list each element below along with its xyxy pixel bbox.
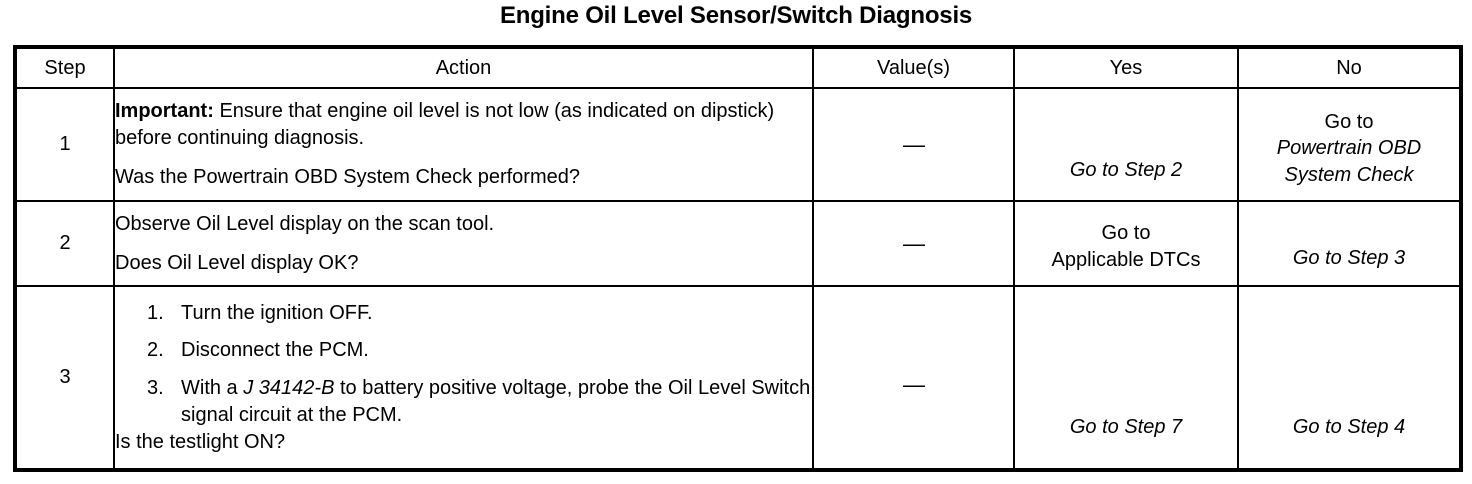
no-cell: Go to Step 3 bbox=[1238, 201, 1461, 286]
value-cell: — bbox=[813, 286, 1014, 470]
table-header-row: Step Action Value(s) Yes No bbox=[15, 47, 1461, 88]
yes-goto-reference: Applicable DTCs bbox=[1015, 247, 1237, 273]
list-item-text: Turn the ignition OFF. bbox=[181, 302, 373, 324]
yes-cell: Go to Step 7 bbox=[1014, 286, 1238, 470]
action-cell: Important: Ensure that engine oil level … bbox=[114, 88, 813, 201]
yes-goto-label: Go to bbox=[1015, 220, 1237, 246]
no-goto-label: Go to bbox=[1239, 109, 1459, 135]
diagnostic-chart-page: Engine Oil Level Sensor/Switch Diagnosis… bbox=[0, 0, 1472, 484]
list-item-text-before: With a bbox=[181, 377, 243, 399]
table-row: 3 1. Turn the ignition OFF. 2. Disconnec… bbox=[15, 286, 1461, 470]
action-instruction: Observe Oil Level display on the scan to… bbox=[115, 211, 812, 238]
no-cell: Go to Step 4 bbox=[1238, 286, 1461, 470]
column-header-yes: Yes bbox=[1014, 47, 1238, 88]
important-text: Ensure that engine oil level is not low … bbox=[115, 100, 774, 149]
yes-goto-reference: Go to Step 7 bbox=[1070, 416, 1182, 438]
action-important-paragraph: Important: Ensure that engine oil level … bbox=[115, 98, 812, 152]
action-cell: 1. Turn the ignition OFF. 2. Disconnect … bbox=[114, 286, 813, 470]
column-header-no: No bbox=[1238, 47, 1461, 88]
value-dash: — bbox=[903, 132, 924, 158]
yes-cell: Go to Applicable DTCs bbox=[1014, 201, 1238, 286]
yes-content: Go to Step 7 bbox=[1015, 314, 1237, 440]
column-header-action: Action bbox=[114, 47, 813, 88]
table-row: 2 Observe Oil Level display on the scan … bbox=[15, 201, 1461, 286]
step-number: 2 bbox=[15, 201, 114, 286]
column-header-value: Value(s) bbox=[813, 47, 1014, 88]
list-item-number: 1. bbox=[147, 300, 164, 327]
special-tool-reference: J 34142-B bbox=[243, 377, 334, 399]
value-dash: — bbox=[903, 372, 924, 398]
value-cell: — bbox=[813, 201, 1014, 286]
value-content: — bbox=[814, 358, 1013, 398]
diagnosis-table: Step Action Value(s) Yes No 1 Important:… bbox=[13, 45, 1463, 472]
no-content: Go to Powertrain OBD System Check bbox=[1239, 101, 1459, 188]
action-question: Was the Powertrain OBD System Check perf… bbox=[115, 164, 812, 191]
list-item-number: 3. bbox=[147, 375, 164, 402]
yes-content: Go to Applicable DTCs bbox=[1015, 214, 1237, 273]
no-content: Go to Step 3 bbox=[1239, 215, 1459, 271]
action-question: Does Oil Level display OK? bbox=[115, 250, 812, 277]
yes-goto-reference: Go to Step 2 bbox=[1070, 159, 1182, 181]
value-dash: — bbox=[903, 231, 924, 257]
no-goto-reference-line1: Powertrain OBD bbox=[1239, 135, 1459, 161]
action-step-list: 1. Turn the ignition OFF. 2. Disconnect … bbox=[115, 300, 812, 429]
list-item-text: Disconnect the PCM. bbox=[181, 339, 369, 361]
list-item: 2. Disconnect the PCM. bbox=[115, 337, 812, 364]
important-label: Important: bbox=[115, 100, 214, 122]
step-number: 3 bbox=[15, 286, 114, 470]
no-goto-reference: Go to Step 3 bbox=[1293, 247, 1405, 269]
action-cell: Observe Oil Level display on the scan to… bbox=[114, 201, 813, 286]
no-goto-reference-line2: System Check bbox=[1239, 162, 1459, 188]
value-cell: — bbox=[813, 88, 1014, 201]
yes-content: Go to Step 2 bbox=[1015, 105, 1237, 183]
column-header-step: Step bbox=[15, 47, 114, 88]
list-item: 1. Turn the ignition OFF. bbox=[115, 300, 812, 327]
no-cell: Go to Powertrain OBD System Check bbox=[1238, 88, 1461, 201]
no-content: Go to Step 4 bbox=[1239, 314, 1459, 440]
yes-cell: Go to Step 2 bbox=[1014, 88, 1238, 201]
step-number: 1 bbox=[15, 88, 114, 201]
list-item: 3. With a J 34142-B to battery positive … bbox=[115, 375, 812, 429]
page-title: Engine Oil Level Sensor/Switch Diagnosis bbox=[0, 2, 1472, 30]
table-row: 1 Important: Ensure that engine oil leve… bbox=[15, 88, 1461, 201]
action-question: Is the testlight ON? bbox=[115, 429, 812, 456]
list-item-number: 2. bbox=[147, 337, 164, 364]
no-goto-reference: Go to Step 4 bbox=[1293, 416, 1405, 438]
